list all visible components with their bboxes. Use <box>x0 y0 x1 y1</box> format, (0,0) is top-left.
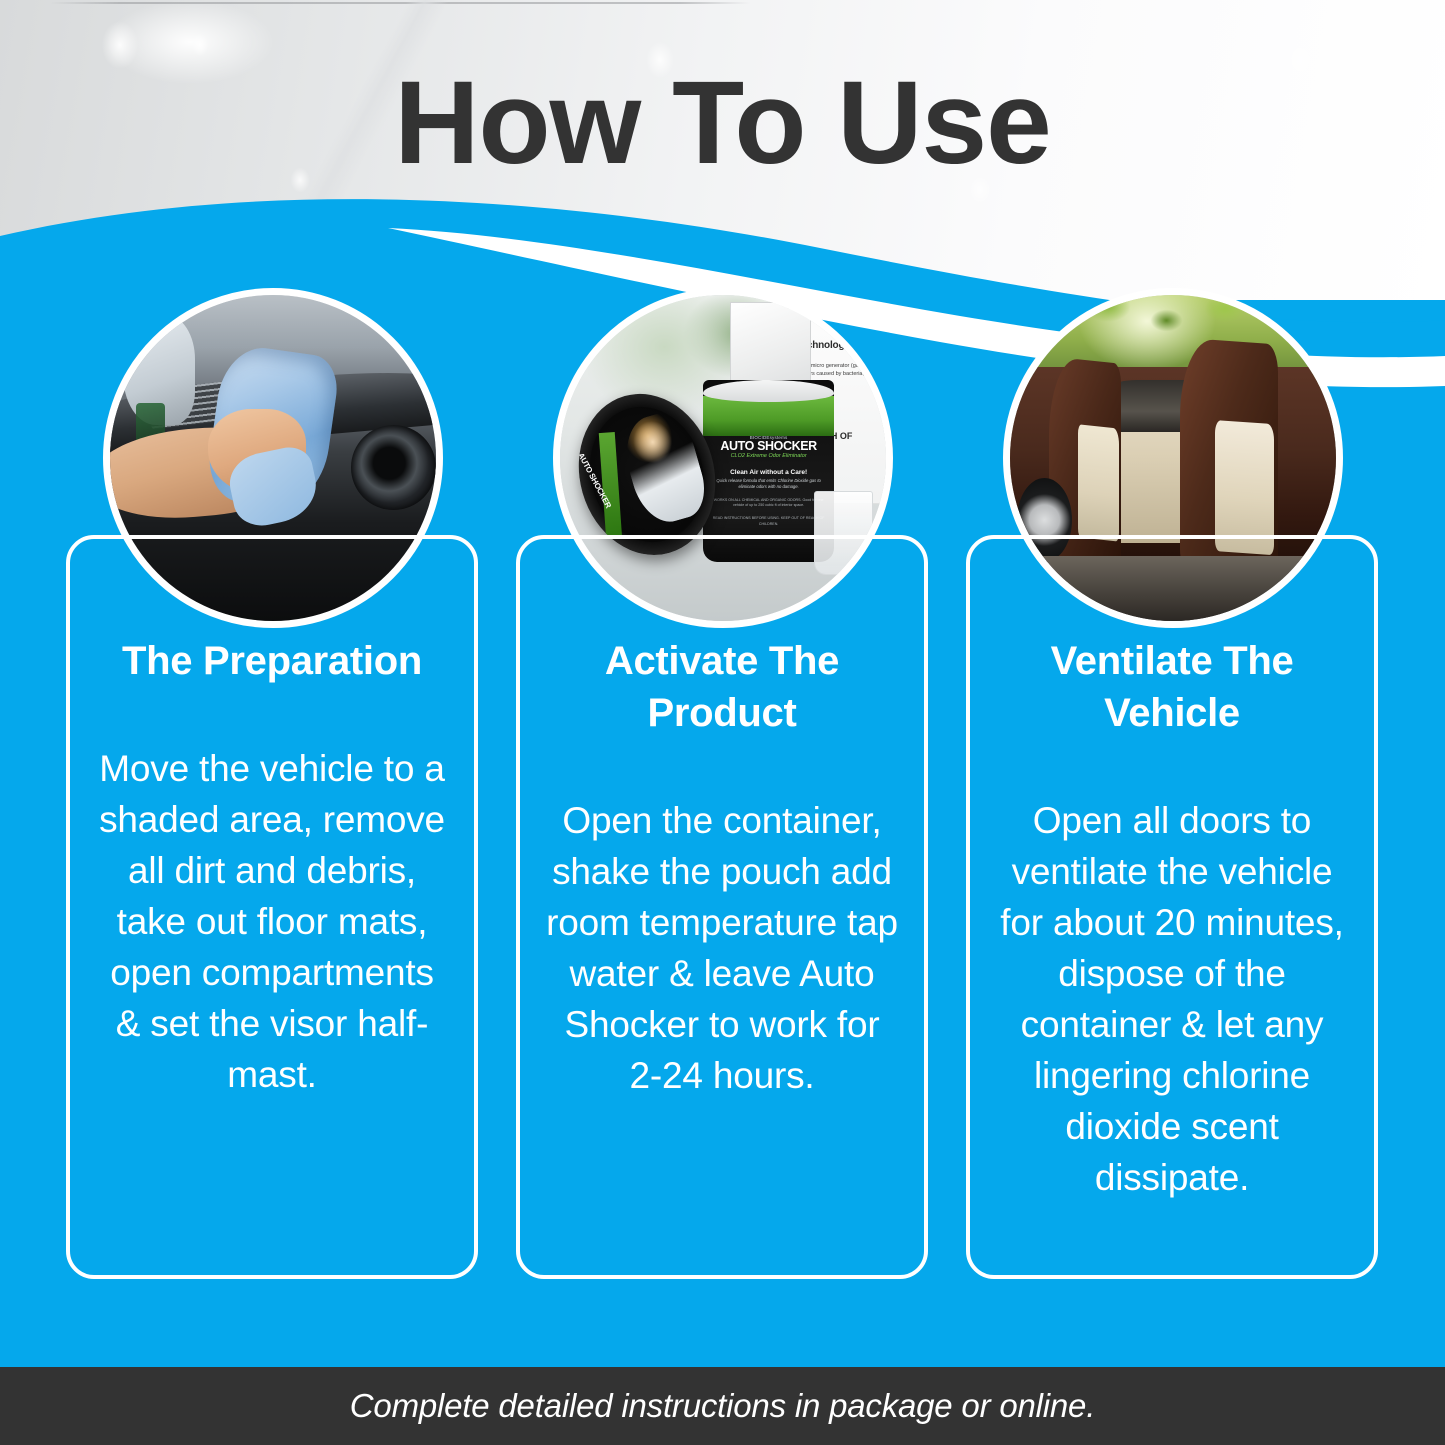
product-subtitle: CLO2 Extreme Odor Eliminator <box>711 453 826 459</box>
product-tagline: Clean Air without a Care! <box>711 469 826 476</box>
container-rim <box>703 380 833 402</box>
front-door-panel <box>1078 424 1120 542</box>
card-title: Ventilate The Vehicle <box>994 635 1350 739</box>
product-warning-text: READ INSTRUCTIONS BEFORE USING. KEEP OUT… <box>711 516 826 528</box>
step-card-activate: Activate The Product Open the container,… <box>516 535 928 1279</box>
product-name: AUTO SHOCKER <box>711 440 826 453</box>
footer-note: Complete detailed instructions in packag… <box>350 1387 1095 1425</box>
container-label-text: BIOCIDEsystems AUTO SHOCKER CLO2 Extreme… <box>711 435 826 528</box>
footer-bar: Complete detailed instructions in packag… <box>0 1367 1445 1445</box>
card-body: Open all doors to ventilate the vehicle … <box>994 795 1350 1203</box>
step-card-ventilate: Ventilate The Vehicle Open all doors to … <box>966 535 1378 1279</box>
step-card-preparation: The Preparation Move the vehicle to a sh… <box>66 535 478 1279</box>
page-title: How To Use <box>0 62 1445 186</box>
product-footer-text: WORKS ON ALL CHEMICAL AND ORGANIC ODORS.… <box>711 498 826 510</box>
container-green-band <box>703 396 833 436</box>
card-body: Open the container, shake the pouch add … <box>544 795 900 1101</box>
how-to-use-infographic: How To Use CLO2-DMG Technology Patent Pe… <box>0 0 1445 1445</box>
card-body: Move the vehicle to a shaded area, remov… <box>94 743 450 1100</box>
product-body-text: Quick release formula that emits Chlorin… <box>711 478 826 491</box>
card-title: Activate The Product <box>544 635 900 739</box>
dashboard-round-vent <box>351 425 436 510</box>
card-title: The Preparation <box>94 635 450 687</box>
